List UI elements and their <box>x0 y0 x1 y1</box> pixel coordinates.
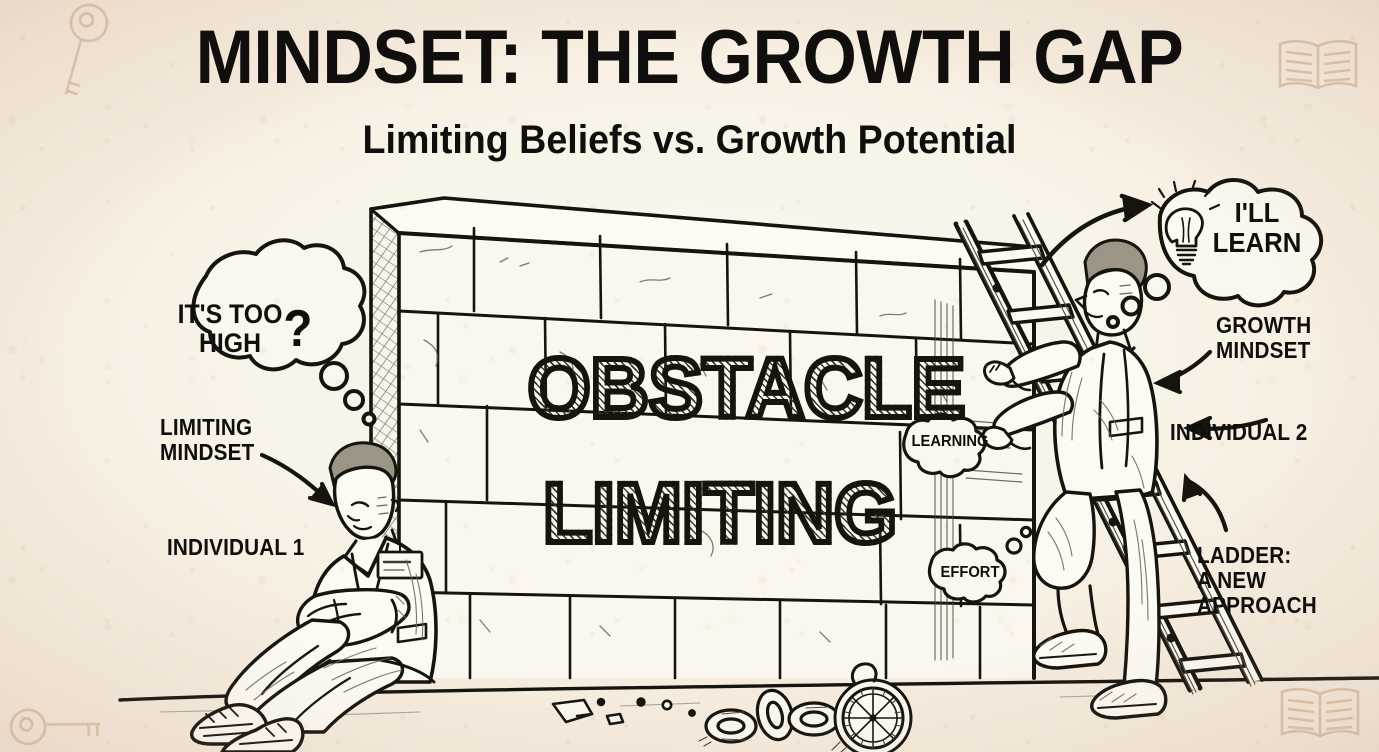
arrow-ladder-caption <box>1184 478 1226 530</box>
label-limiting-mindset: LIMITING MINDSET <box>160 415 254 465</box>
thought-bubble-right-text: I'LL LEARN <box>1208 198 1306 258</box>
arrow-growth-mindset <box>1158 352 1210 392</box>
ladder <box>956 214 1262 694</box>
climbing-figure <box>983 240 1166 718</box>
mini-bubble-effort-text: EFFORT <box>937 564 1003 582</box>
broken-chain <box>699 687 839 746</box>
arrow-limiting-mindset <box>262 455 332 504</box>
key-icon <box>4 678 105 752</box>
mini-bubble-learning-text: LEARNING <box>911 433 988 451</box>
wall-word-obstacle: OBSTACLE <box>528 345 902 431</box>
label-individual-2: INDIVIDUAL 2 <box>1170 420 1308 445</box>
rubble <box>553 699 695 724</box>
thought-bubble-left-text: IT'S TOO HIGH <box>175 300 285 358</box>
ground-shading <box>160 694 1160 716</box>
wall-word-limiting: LIMITING <box>542 470 897 556</box>
arrow-bubble-to-climber <box>1042 196 1148 265</box>
book-icon <box>1282 689 1358 736</box>
question-mark-glyph: ? <box>283 303 312 355</box>
compass <box>832 664 911 752</box>
seated-figure <box>192 443 436 752</box>
label-individual-1: INDIVIDUAL 1 <box>167 535 305 560</box>
name-badge <box>378 546 422 578</box>
page-title: MINDSET: THE GROWTH GAP <box>55 19 1324 97</box>
poster-canvas: MINDSET: THE GROWTH GAP Limiting Beliefs… <box>0 0 1379 752</box>
label-growth-mindset: GROWTH MINDSET <box>1216 313 1311 363</box>
ground-line <box>120 678 1379 700</box>
page-subtitle: Limiting Beliefs vs. Growth Potential <box>41 118 1337 162</box>
label-ladder-caption: LADDER: A NEW APPROACH <box>1197 543 1361 618</box>
